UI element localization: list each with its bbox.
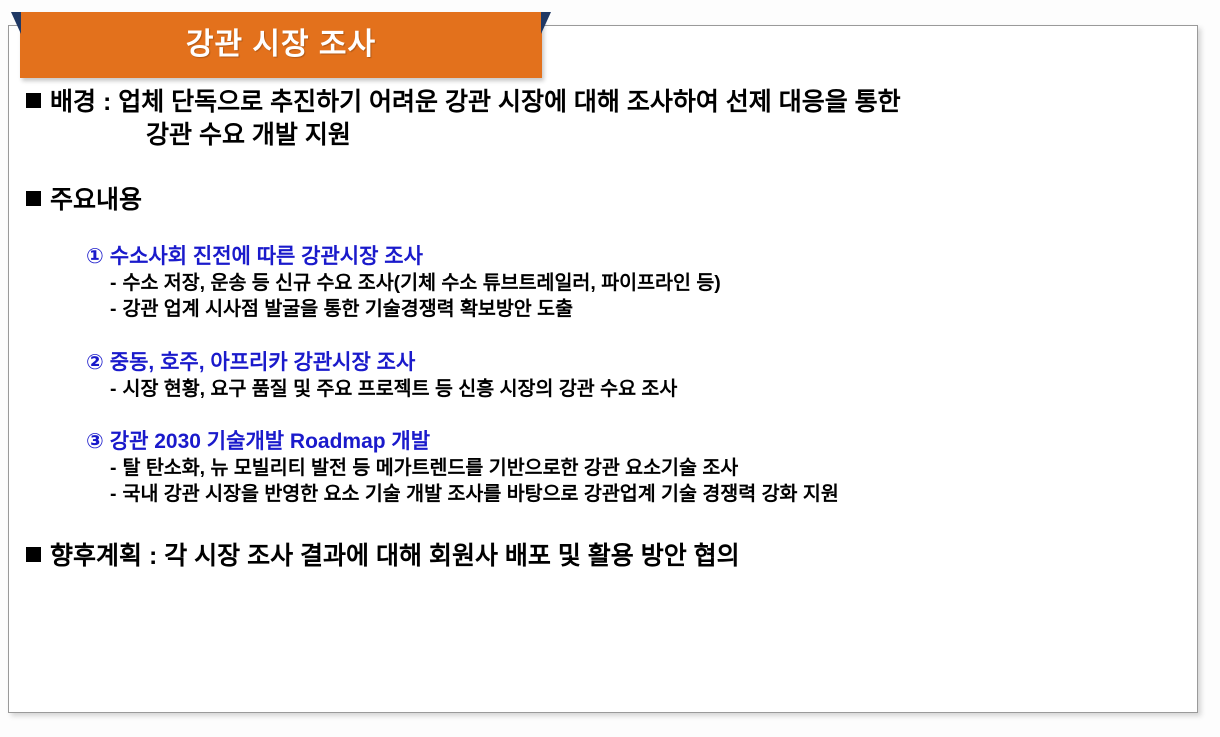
circled-number-1-icon: ① bbox=[86, 245, 104, 268]
future-plan-text: 향후계획 : 각 시장 조사 결과에 대해 회원사 배포 및 활용 방안 협의 bbox=[50, 542, 740, 570]
slide-root: 강관 시장 조사 배경 : 업체 단독으로 추진하기 어려운 강관 시장에 대해… bbox=[0, 0, 1220, 737]
circled-number-2-icon: ② bbox=[86, 351, 104, 374]
background-line-1: 배경 : 업체 단독으로 추진하기 어려운 강관 시장에 대해 조사하여 선제 … bbox=[26, 86, 1176, 119]
ribbon-tail-left-icon bbox=[11, 12, 21, 34]
slide-body: 배경 : 업체 단독으로 추진하기 어려운 강관 시장에 대해 조사하여 선제 … bbox=[26, 86, 1176, 686]
item-2-bullet-1: -시장 현황, 요구 품질 및 주요 프로젝트 등 신흥 시장의 강관 수요 조… bbox=[26, 376, 1176, 402]
item-3-title-text: 강관 2030 기술개발 Roadmap 개발 bbox=[110, 430, 430, 453]
square-bullet-icon bbox=[26, 93, 41, 108]
slide-title-text: 강관 시장 조사 bbox=[20, 12, 542, 78]
main-contents-heading: 주요내용 bbox=[26, 184, 1176, 217]
item-1-bullet-1-text: 수소 저장, 운송 등 신규 수요 조사(기체 수소 튜브트레일러, 파이프라인… bbox=[123, 272, 721, 294]
spacer bbox=[26, 323, 1176, 349]
item-1-title: ①수소사회 진전에 따른 강관시장 조사 bbox=[26, 243, 1176, 270]
item-3-bullet-2-text: 국내 강관 시장을 반영한 요소 기술 개발 조사를 바탕으로 강관업계 기술 … bbox=[123, 483, 839, 505]
background-line-1-text: 배경 : 업체 단독으로 추진하기 어려운 강관 시장에 대해 조사하여 선제 … bbox=[50, 88, 901, 116]
spacer bbox=[26, 508, 1176, 540]
main-content-item-2: ②중동, 호주, 아프리카 강관시장 조사 -시장 현황, 요구 품질 및 주요… bbox=[26, 349, 1176, 402]
main-content-item-1: ①수소사회 진전에 따른 강관시장 조사 -수소 저장, 운송 등 신규 수요 … bbox=[26, 243, 1176, 323]
dash-bullet-icon: - bbox=[110, 272, 117, 294]
item-1-title-text: 수소사회 진전에 따른 강관시장 조사 bbox=[110, 245, 423, 268]
ribbon-tail-right-icon bbox=[541, 12, 551, 34]
item-3-title: ③강관 2030 기술개발 Roadmap 개발 bbox=[26, 428, 1176, 455]
spacer bbox=[26, 217, 1176, 243]
slide-title-banner: 강관 시장 조사 bbox=[20, 12, 542, 78]
background-line-2: 강관 수요 개발 지원 bbox=[26, 119, 1176, 152]
item-2-title: ②중동, 호주, 아프리카 강관시장 조사 bbox=[26, 349, 1176, 376]
dash-bullet-icon: - bbox=[110, 457, 117, 479]
spacer bbox=[26, 402, 1176, 428]
item-2-bullet-1-text: 시장 현황, 요구 품질 및 주요 프로젝트 등 신흥 시장의 강관 수요 조사 bbox=[123, 378, 678, 400]
circled-number-3-icon: ③ bbox=[86, 430, 104, 453]
item-3-bullet-1: -탈 탄소화, 뉴 모빌리티 발전 등 메가트렌드를 기반으로한 강관 요소기술… bbox=[26, 455, 1176, 481]
item-3-bullet-1-text: 탈 탄소화, 뉴 모빌리티 발전 등 메가트렌드를 기반으로한 강관 요소기술 … bbox=[123, 457, 739, 479]
item-1-bullet-2: -강관 업계 시사점 발굴을 통한 기술경쟁력 확보방안 도출 bbox=[26, 296, 1176, 322]
item-1-bullet-2-text: 강관 업계 시사점 발굴을 통한 기술경쟁력 확보방안 도출 bbox=[123, 298, 574, 320]
item-1-bullet-1: -수소 저장, 운송 등 신규 수요 조사(기체 수소 튜브트레일러, 파이프라… bbox=[26, 270, 1176, 296]
square-bullet-icon bbox=[26, 547, 41, 562]
section-future-plan: 향후계획 : 각 시장 조사 결과에 대해 회원사 배포 및 활용 방안 협의 bbox=[26, 540, 1176, 573]
item-3-bullet-2: -국내 강관 시장을 반영한 요소 기술 개발 조사를 바탕으로 강관업계 기술… bbox=[26, 481, 1176, 507]
main-content-item-3: ③강관 2030 기술개발 Roadmap 개발 -탈 탄소화, 뉴 모빌리티 … bbox=[26, 428, 1176, 508]
main-contents-heading-text: 주요내용 bbox=[50, 186, 142, 214]
dash-bullet-icon: - bbox=[110, 378, 117, 400]
future-plan-line: 향후계획 : 각 시장 조사 결과에 대해 회원사 배포 및 활용 방안 협의 bbox=[26, 540, 1176, 573]
section-background: 배경 : 업체 단독으로 추진하기 어려운 강관 시장에 대해 조사하여 선제 … bbox=[26, 86, 1176, 152]
section-main-contents: 주요내용 ①수소사회 진전에 따른 강관시장 조사 -수소 저장, 운송 등 신… bbox=[26, 184, 1176, 508]
item-2-title-text: 중동, 호주, 아프리카 강관시장 조사 bbox=[110, 351, 416, 374]
square-bullet-icon bbox=[26, 191, 41, 206]
spacer bbox=[26, 152, 1176, 184]
dash-bullet-icon: - bbox=[110, 298, 117, 320]
dash-bullet-icon: - bbox=[110, 483, 117, 505]
